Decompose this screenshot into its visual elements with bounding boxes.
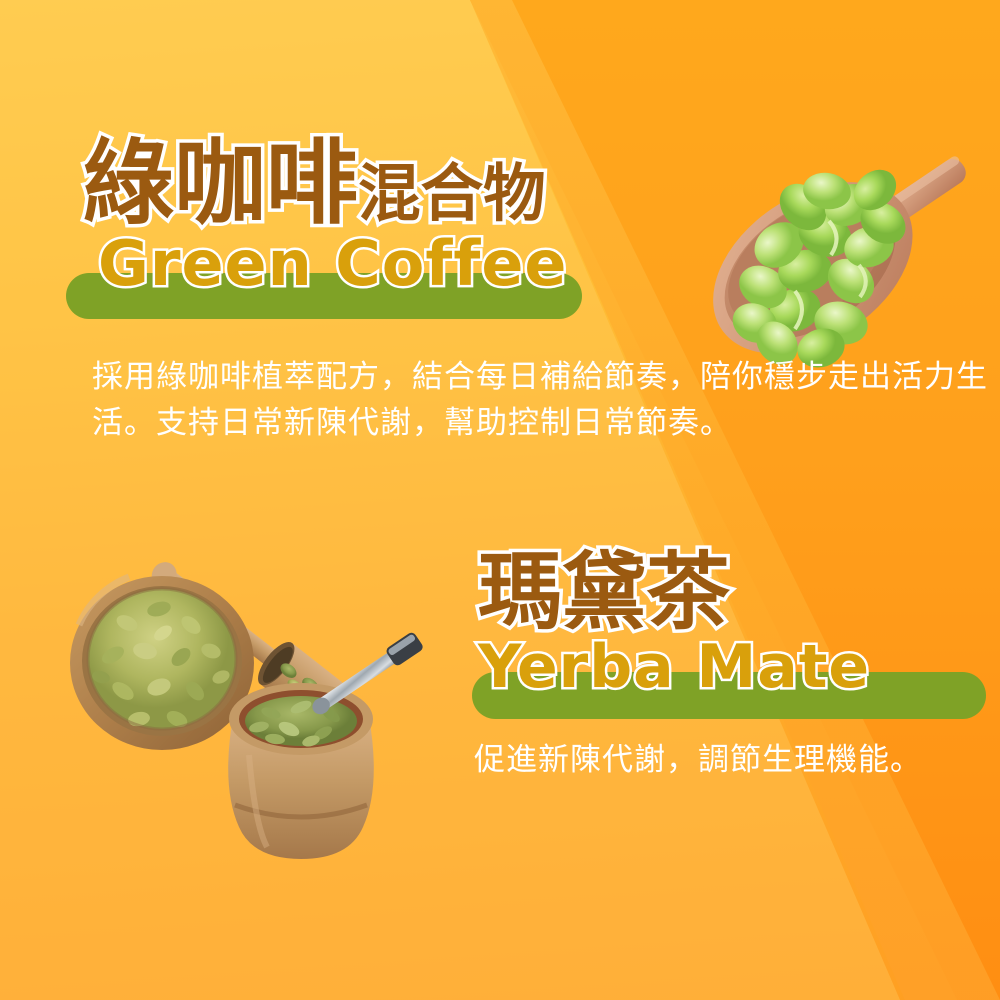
yerba-mate-cjk-title: 瑪黛茶 [478, 550, 730, 634]
green-coffee-cjk-title: 綠咖啡混合物 [82, 138, 546, 230]
green-coffee-description: 採用綠咖啡植萃配方，結合每日補給節奏，陪你穩步走出活力生活。支持日常新陳代謝，幫… [92, 355, 992, 447]
yerba-mate-en-title: Yerba Mate [478, 637, 870, 697]
green-coffee-beans-scoop-image [645, 95, 1000, 385]
product-ingredient-poster: 綠咖啡混合物 Green Coffee 採用綠咖啡植萃配方，結合每日補給節奏，陪… [0, 0, 1000, 1000]
yerba-mate-description: 促進新陳代謝，調節生理機能。 [474, 738, 994, 784]
green-coffee-cjk-suffix: 混合物 [358, 157, 546, 230]
yerba-mate-image [35, 505, 505, 915]
green-coffee-cjk-main: 綠咖啡 [82, 130, 358, 237]
yerba-mate-cjk-main: 瑪黛茶 [478, 543, 730, 641]
green-coffee-en-title: Green Coffee [98, 233, 567, 295]
